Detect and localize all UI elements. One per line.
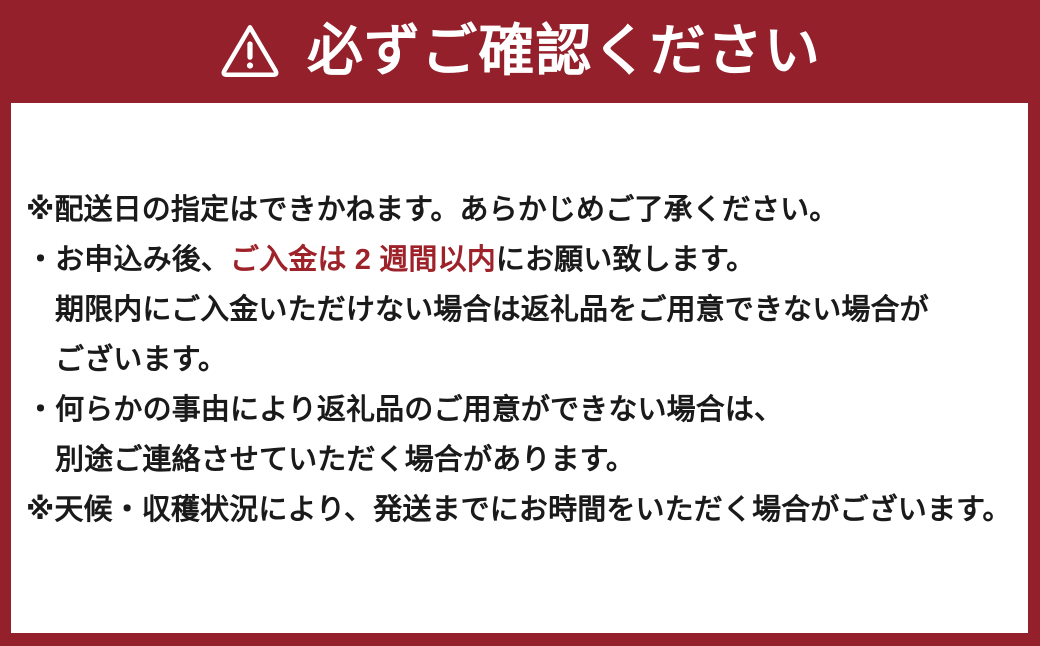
notice-line-list: ※配送日の指定はできかねます。あらかじめご了承ください。・お申込み後、ご入金は …: [26, 185, 1028, 535]
notice-body: ※配送日の指定はできかねます。あらかじめご了承ください。・お申込み後、ご入金は …: [11, 103, 1028, 633]
page-title: 必ずご確認ください: [307, 23, 821, 79]
notice-text: ※天候・収穫状況により、発送までにお時間をいただく場合がございます。: [26, 494, 1011, 526]
line-unavailable-reason-cont: 別途ご連絡させていただく場合があります。: [26, 435, 1028, 485]
line-weather-harvest: ※天候・収穫状況により、発送までにお時間をいただく場合がございます。: [26, 485, 1028, 535]
notice-text: 別途ご連絡させていただく場合があります。: [55, 444, 635, 476]
notice-header-content: 必ずご確認ください: [219, 20, 821, 82]
line-payment-deadline-cont-1: 期限内にご入金いただけない場合は返礼品をご用意できない場合が: [26, 285, 1028, 335]
notice-header: 必ずご確認ください: [0, 0, 1040, 103]
notice-card: 必ずご確認ください ※配送日の指定はできかねます。あらかじめご了承ください。・お…: [0, 0, 1040, 646]
warning-triangle-icon: [219, 20, 281, 82]
line-shipping-date: ※配送日の指定はできかねます。あらかじめご了承ください。: [26, 185, 1028, 235]
notice-text: 期限内にご入金いただけない場合は返礼品をご用意できない場合が: [55, 294, 929, 326]
notice-text: ございます。: [55, 344, 227, 376]
notice-text: ※配送日の指定はできかねます。あらかじめご了承ください。: [26, 194, 838, 226]
line-payment-deadline-cont-2: ございます。: [26, 335, 1028, 385]
line-unavailable-reason: ・何らかの事由により返礼品のご用意ができない場合は、: [26, 385, 1028, 435]
notice-text: ・何らかの事由により返礼品のご用意ができない場合は、: [26, 394, 783, 426]
notice-text: ・お申込み後、: [26, 244, 230, 276]
notice-text: にお願い致します。: [496, 244, 755, 276]
accent-text: ご入金は 2 週間以内: [230, 244, 496, 276]
line-payment-deadline: ・お申込み後、ご入金は 2 週間以内にお願い致します。: [26, 235, 1028, 285]
